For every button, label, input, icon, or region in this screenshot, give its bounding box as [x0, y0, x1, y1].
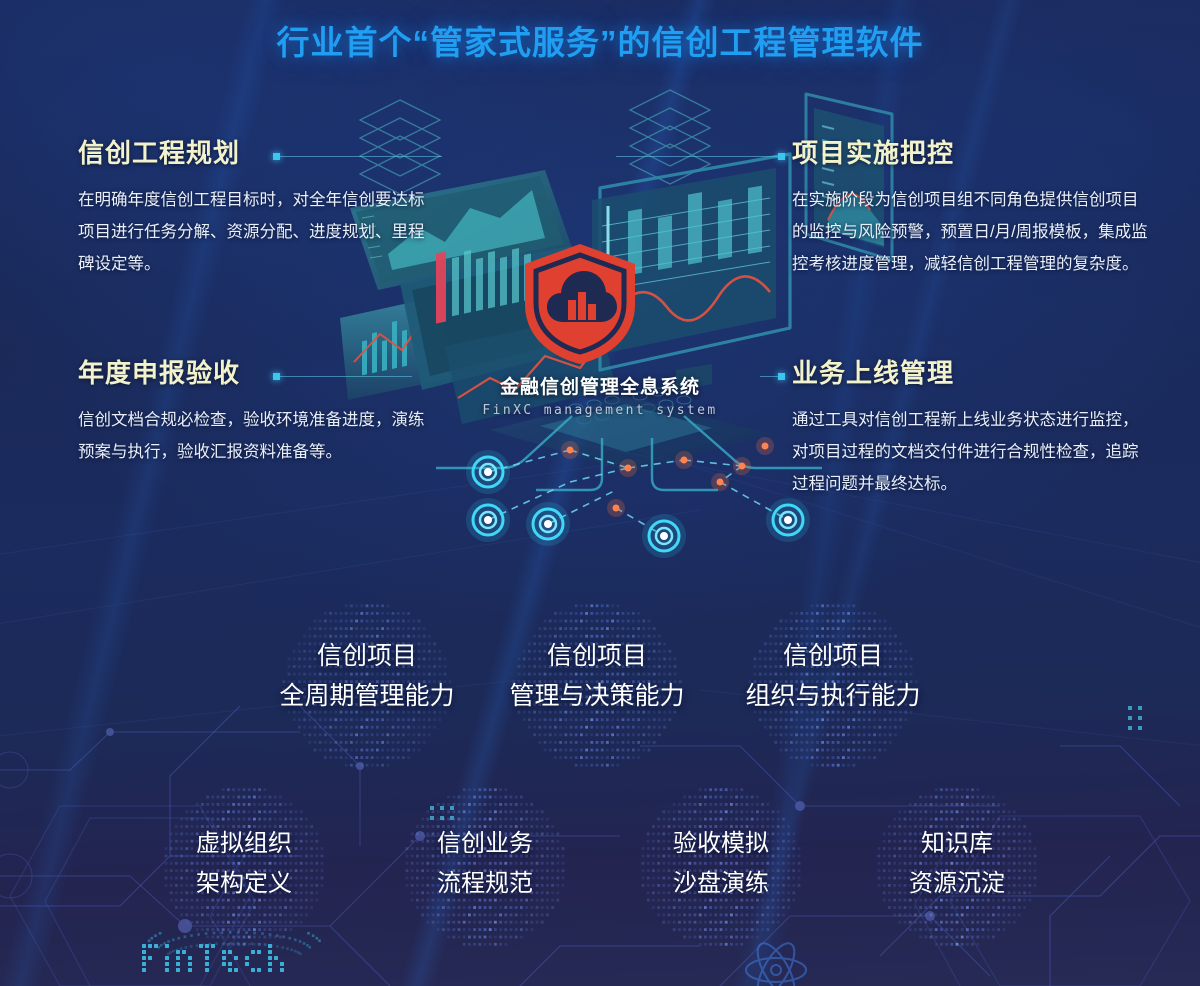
capability-acceptance-drill-line1: 验收模拟 — [632, 824, 810, 864]
capability-process-line1: 信创业务 — [396, 824, 574, 864]
fintech-dot-matrix-logo — [138, 930, 328, 978]
capability-sphere-execution: 信创项目 组织与执行能力 — [738, 598, 928, 773]
feature-planning-body: 在明确年度信创工程目标时，对全年信创要达标项目进行任务分解、资源分配、进度规划、… — [78, 184, 438, 280]
connector-line-planning — [277, 156, 442, 157]
atom-icon — [730, 930, 822, 986]
system-name-cn: 金融信创管理全息系统 — [400, 372, 800, 399]
network-node-graph — [420, 420, 840, 560]
capability-lifecycle-line2: 全周期管理能力 — [272, 676, 462, 716]
page-title: 行业首个“管家式服务”的信创工程管理软件 — [0, 16, 1200, 64]
capability-sphere-lifecycle: 信创项目 全周期管理能力 — [272, 598, 462, 773]
capability-knowledge-line2: 资源沉淀 — [868, 864, 1046, 904]
feature-business-golive-heading: 业务上线管理 — [792, 353, 1152, 390]
capability-virtual-org-line1: 虚拟组织 — [155, 824, 333, 864]
system-name-caption: 金融信创管理全息系统 FinXC management system — [400, 372, 800, 418]
feature-annual-acceptance-body: 信创文档合规必检查，验收环境准备进度，演练预案与执行，验收汇报资料准备等。 — [78, 404, 438, 468]
capability-sphere-acceptance-drill: 验收模拟 沙盘演练 — [632, 782, 810, 952]
infographic-canvas: 行业首个“管家式服务”的信创工程管理软件 — [0, 0, 1200, 986]
feature-implementation-heading: 项目实施把控 — [792, 133, 1152, 170]
feature-business-golive: 业务上线管理 通过工具对信创工程新上线业务状态进行监控，对项目过程的文档交付件进… — [792, 353, 1152, 500]
feature-annual-acceptance: 年度申报验收 信创文档合规必检查，验收环境准备进度，演练预案与执行，验收汇报资料… — [78, 353, 438, 468]
capability-sphere-knowledge: 知识库 资源沉淀 — [868, 782, 1046, 952]
node-dot-orange — [561, 437, 774, 517]
feature-planning-heading: 信创工程规划 — [78, 133, 438, 170]
feature-implementation: 项目实施把控 在实施阶段为信创项目组不同角色提供信创项目的监控与风险预警，预置日… — [792, 133, 1152, 280]
connector-dot-annual — [273, 373, 280, 380]
capability-virtual-org-line2: 架构定义 — [155, 864, 333, 904]
feature-implementation-body: 在实施阶段为信创项目组不同角色提供信创项目的监控与风险预警，预置日/月/周报模板… — [792, 184, 1152, 280]
capability-acceptance-drill-line2: 沙盘演练 — [632, 864, 810, 904]
capability-execution-line2: 组织与执行能力 — [738, 676, 928, 716]
capability-sphere-decision: 信创项目 管理与决策能力 — [502, 598, 692, 773]
capability-execution-line1: 信创项目 — [738, 636, 928, 676]
connector-dot-implementation — [778, 153, 785, 160]
feature-annual-acceptance-heading: 年度申报验收 — [78, 353, 438, 390]
connector-dot-planning — [273, 153, 280, 160]
connector-dot-golive — [778, 373, 785, 380]
capability-sphere-virtual-org: 虚拟组织 架构定义 — [155, 782, 333, 952]
connector-line-annual — [277, 376, 412, 377]
system-name-en: FinXC management system — [400, 403, 800, 418]
connector-line-implementation — [616, 156, 782, 157]
capability-lifecycle-line1: 信创项目 — [272, 636, 462, 676]
capability-process-line2: 流程规范 — [396, 864, 574, 904]
capability-decision-line1: 信创项目 — [502, 636, 692, 676]
capability-sphere-process: 信创业务 流程规范 — [396, 782, 574, 952]
capability-knowledge-line1: 知识库 — [868, 824, 1046, 864]
shield-cloud-chart-icon — [515, 238, 645, 368]
capability-decision-line2: 管理与决策能力 — [502, 676, 692, 716]
feature-business-golive-body: 通过工具对信创工程新上线业务状态进行监控，对项目过程的文档交付件进行合规性检查，… — [792, 404, 1152, 500]
